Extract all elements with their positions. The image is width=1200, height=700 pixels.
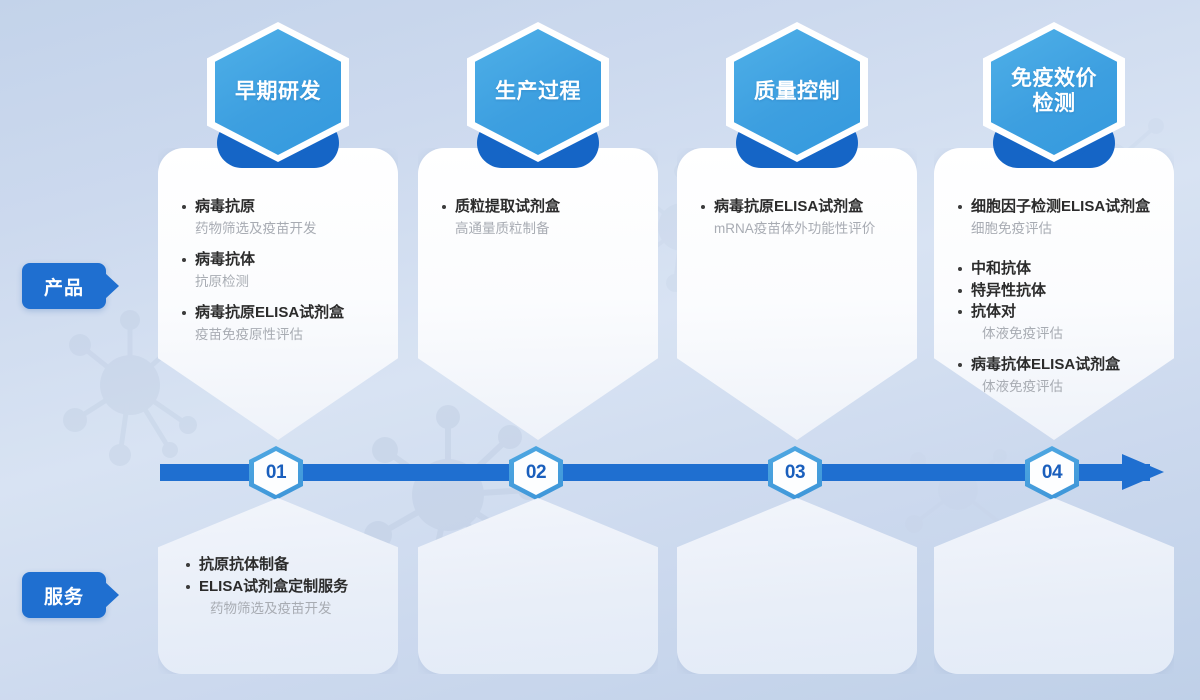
stage-badge-label: 免疫效价 检测	[1011, 67, 1097, 117]
list-item: 病毒抗体 抗原检测	[180, 249, 384, 291]
stage-column-3: 病毒抗原ELISA试剂盒 mRNA疫苗体外功能性评价 质量控制	[677, 0, 917, 700]
item-title: ELISA试剂盒定制服务	[184, 576, 384, 598]
list-item: 抗原抗体制备	[184, 554, 384, 576]
item-subtitle: 细胞免疫评估	[956, 219, 1160, 238]
stage-badge-label: 早期研发	[235, 80, 321, 105]
item-subtitle: mRNA疫苗体外功能性评价	[699, 219, 903, 238]
item-title: 病毒抗体	[180, 249, 384, 271]
stage-column-1: 病毒抗原 药物筛选及疫苗开发 病毒抗体 抗原检测 病毒抗原ELISA试剂盒 疫苗…	[158, 0, 398, 700]
stage-badge-label: 质量控制	[754, 80, 840, 105]
stage-badge[interactable]: 生产过程	[463, 22, 613, 162]
stage-column-2: 质粒提取试剂盒 高通量质粒制备 生产过程	[418, 0, 658, 700]
item-title: 病毒抗原ELISA试剂盒	[180, 302, 384, 324]
list-item: 病毒抗原 药物筛选及疫苗开发	[180, 196, 384, 238]
item-title: 特异性抗体	[956, 280, 1160, 302]
list-item: 细胞因子检测ELISA试剂盒 细胞免疫评估	[956, 196, 1160, 238]
stage-column-4: 细胞因子检测ELISA试剂盒 细胞免疫评估 中和抗体 特异性抗体 抗体对 体液免…	[934, 0, 1174, 700]
service-list: 抗原抗体制备 ELISA试剂盒定制服务 药物筛选及疫苗开发	[184, 554, 384, 629]
stage-badge[interactable]: 早期研发	[203, 22, 353, 162]
product-list: 质粒提取试剂盒 高通量质粒制备	[440, 196, 644, 249]
list-item: 病毒抗原ELISA试剂盒 mRNA疫苗体外功能性评价	[699, 196, 903, 238]
item-title: 病毒抗原	[180, 196, 384, 218]
item-subtitle: 体液免疫评估	[956, 324, 1160, 343]
item-subtitle: 体液免疫评估	[956, 377, 1160, 396]
product-card[interactable]: 病毒抗原 药物筛选及疫苗开发 病毒抗体 抗原检测 病毒抗原ELISA试剂盒 疫苗…	[158, 148, 398, 440]
product-card[interactable]: 细胞因子检测ELISA试剂盒 细胞免疫评估 中和抗体 特异性抗体 抗体对 体液免…	[934, 148, 1174, 440]
product-list: 细胞因子检测ELISA试剂盒 细胞免疫评估 中和抗体 特异性抗体 抗体对 体液免…	[956, 196, 1160, 407]
item-subtitle: 高通量质粒制备	[440, 219, 644, 238]
product-list: 病毒抗原ELISA试剂盒 mRNA疫苗体外功能性评价	[699, 196, 903, 249]
service-card[interactable]	[677, 498, 917, 674]
list-item: 抗体对 体液免疫评估	[956, 301, 1160, 343]
item-subtitle: 药物筛选及疫苗开发	[180, 219, 384, 238]
spacer	[956, 249, 1160, 258]
list-item: 病毒抗原ELISA试剂盒 疫苗免疫原性评估	[180, 302, 384, 344]
service-card[interactable]	[418, 498, 658, 674]
list-item: 病毒抗体ELISA试剂盒 体液免疫评估	[956, 354, 1160, 396]
product-card[interactable]: 质粒提取试剂盒 高通量质粒制备	[418, 148, 658, 440]
item-subtitle: 药物筛选及疫苗开发	[184, 599, 384, 618]
item-title: 中和抗体	[956, 258, 1160, 280]
item-subtitle: 疫苗免疫原性评估	[180, 325, 384, 344]
item-subtitle: 抗原检测	[180, 272, 384, 291]
list-item: ELISA试剂盒定制服务 药物筛选及疫苗开发	[184, 576, 384, 618]
sidebar-tag-service: 服务	[22, 572, 106, 618]
list-item: 质粒提取试剂盒 高通量质粒制备	[440, 196, 644, 238]
item-title: 质粒提取试剂盒	[440, 196, 644, 218]
sidebar-tag-service-label: 服务	[44, 582, 84, 609]
service-card[interactable]	[934, 498, 1174, 674]
item-title: 细胞因子检测ELISA试剂盒	[956, 196, 1160, 218]
item-title: 病毒抗体ELISA试剂盒	[956, 354, 1160, 376]
stage-badge-label: 生产过程	[495, 80, 581, 105]
item-title: 抗体对	[956, 301, 1160, 323]
product-card[interactable]: 病毒抗原ELISA试剂盒 mRNA疫苗体外功能性评价	[677, 148, 917, 440]
product-list: 病毒抗原 药物筛选及疫苗开发 病毒抗体 抗原检测 病毒抗原ELISA试剂盒 疫苗…	[180, 196, 384, 355]
sidebar-tag-product: 产品	[22, 263, 106, 309]
stage-badge[interactable]: 质量控制	[722, 22, 872, 162]
sidebar-tag-product-label: 产品	[44, 273, 84, 300]
item-title: 抗原抗体制备	[184, 554, 384, 576]
list-item: 特异性抗体	[956, 280, 1160, 302]
service-card[interactable]: 抗原抗体制备 ELISA试剂盒定制服务 药物筛选及疫苗开发	[158, 498, 398, 674]
item-title: 病毒抗原ELISA试剂盒	[699, 196, 903, 218]
list-item: 中和抗体	[956, 258, 1160, 280]
stage-badge[interactable]: 免疫效价 检测	[979, 22, 1129, 162]
